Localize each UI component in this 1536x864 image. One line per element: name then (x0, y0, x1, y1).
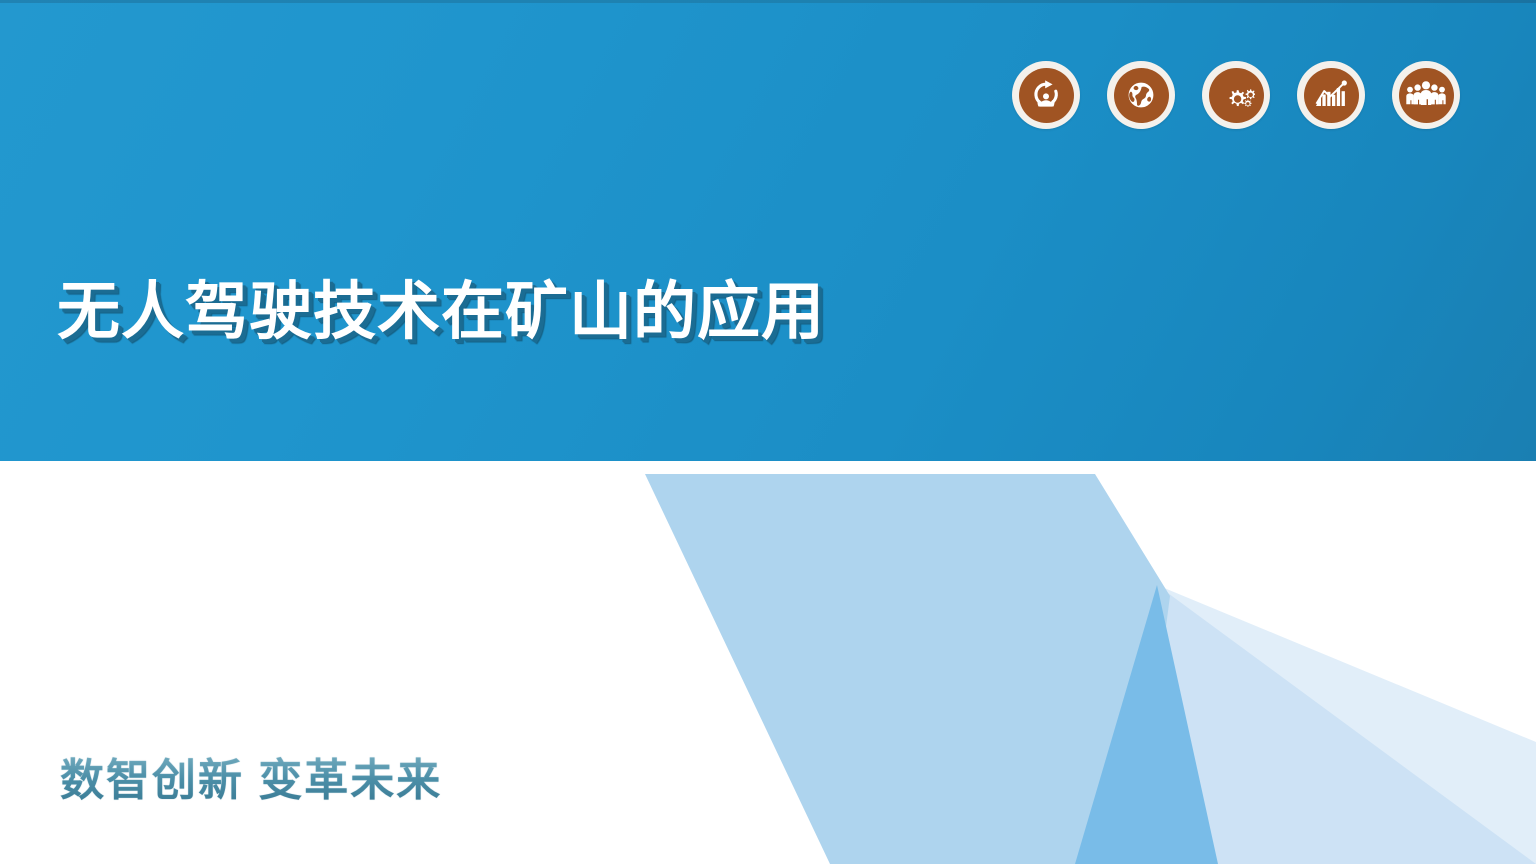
globe-icon[interactable] (1107, 61, 1175, 129)
title-block: 无人驾驶技术在矿山的应用 (57, 270, 1057, 360)
tagline-text: 数智创新 变革未来 (60, 752, 442, 810)
people-group-icon[interactable] (1392, 61, 1460, 129)
gears-icon[interactable] (1202, 61, 1270, 129)
refresh-person-icon[interactable] (1012, 61, 1080, 129)
icon-row (1012, 61, 1460, 129)
icon-disc (1209, 68, 1264, 123)
icon-disc (1399, 68, 1454, 123)
header-top-rule (0, 0, 1536, 3)
icon-disc (1304, 68, 1359, 123)
icon-disc (1019, 68, 1074, 123)
bar-chart-growth-icon[interactable] (1297, 61, 1365, 129)
page-title: 无人驾驶技术在矿山的应用 (57, 270, 1057, 354)
icon-disc (1114, 68, 1169, 123)
deco-shape-main (645, 474, 1170, 864)
tagline-block: 数智创新 变革未来 数智创新 变革未来 (60, 752, 442, 810)
presentation-slide: 无人驾驶技术在矿山的应用 数智创新 变革未来 数智创新 变革未来 (0, 0, 1536, 864)
